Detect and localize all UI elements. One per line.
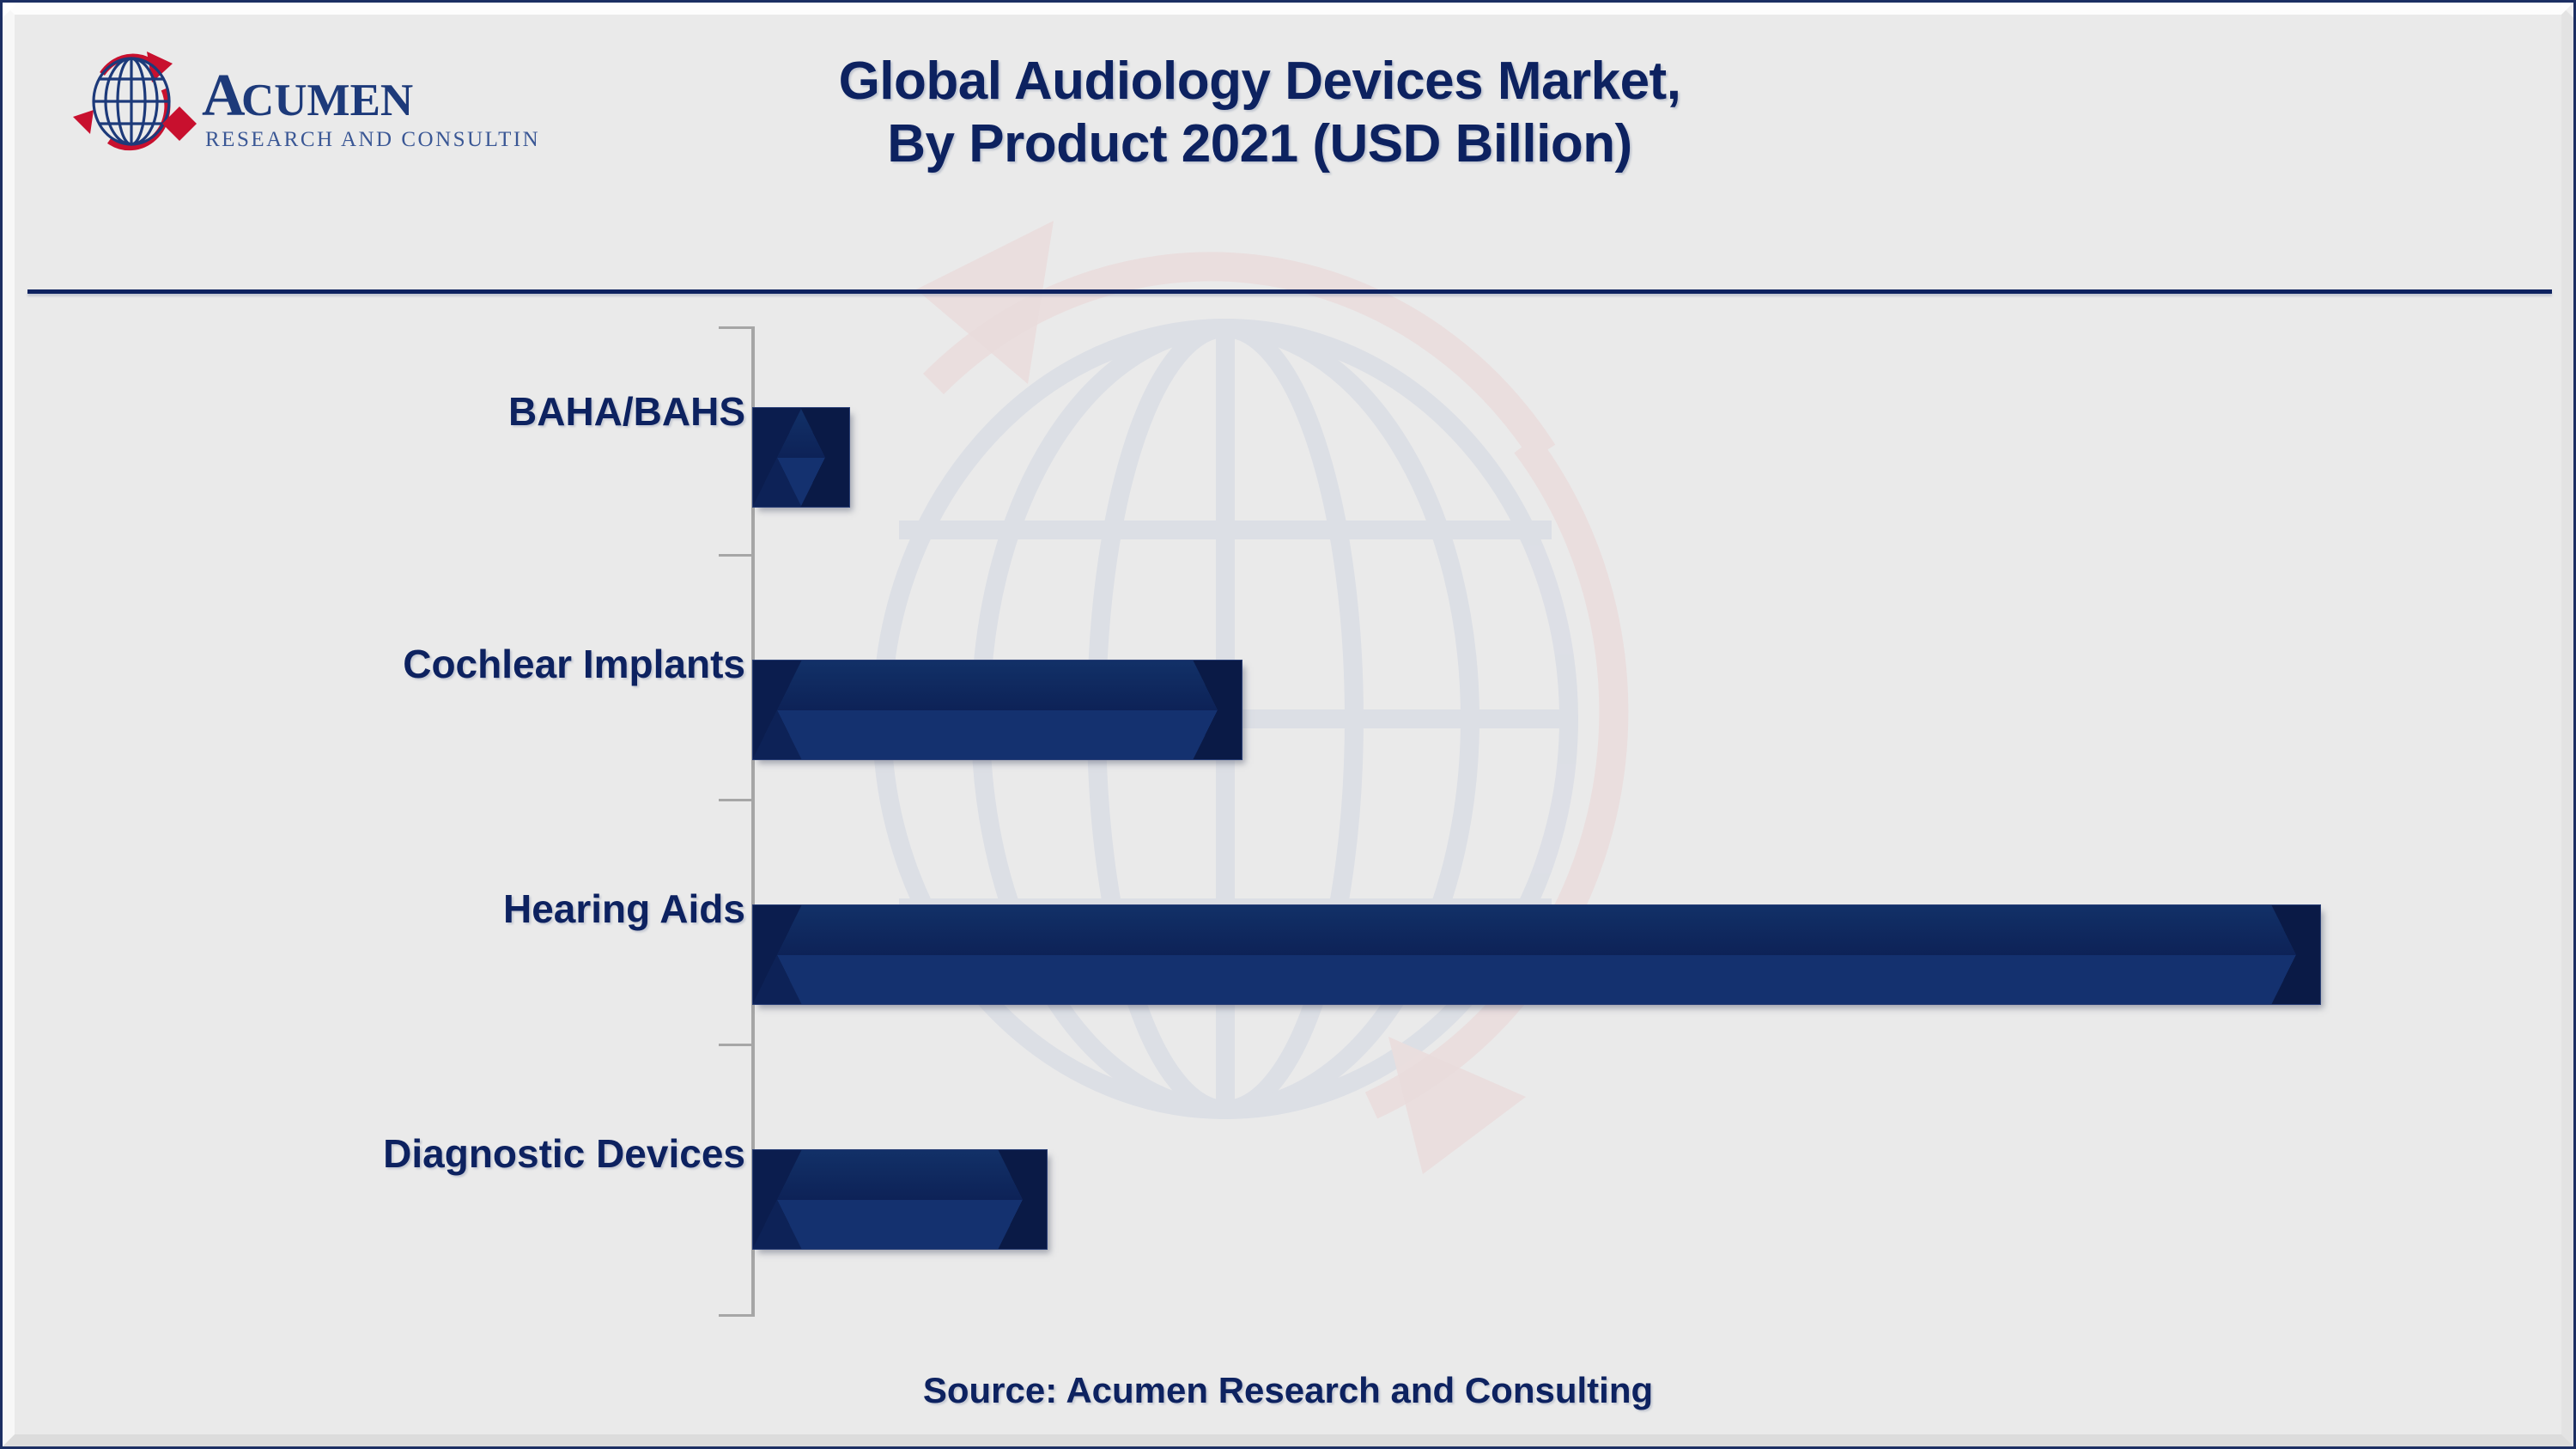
bar-outline: [752, 660, 1242, 760]
source-caption: Source: Acumen Research and Consulting: [15, 1370, 2561, 1411]
plot-area: BAHA/BAHS Cochlear Implants: [15, 15, 2561, 1434]
axis-tick: [719, 1044, 751, 1046]
bar-outline: [752, 904, 2321, 1005]
bar-cochlear-implants: [752, 660, 1242, 760]
bar-row: [752, 407, 850, 508]
header-divider: [27, 289, 2552, 294]
page-title: Global Audiology Devices Market, By Prod…: [616, 51, 1904, 175]
acumen-logo: A CUMEN RESEARCH AND CONSULTING: [58, 45, 538, 156]
bar-diagnostic-devices: [752, 1149, 1048, 1250]
bar-outline: [752, 1149, 1048, 1250]
bar-baha: [752, 407, 850, 508]
axis-tick: [719, 799, 751, 801]
bar-outline: [752, 407, 850, 508]
chart-canvas: A CUMEN RESEARCH AND CONSULTING Global A…: [15, 15, 2561, 1434]
title-line-1: Global Audiology Devices Market,: [839, 52, 1681, 111]
category-label-cochlear: Cochlear Implants: [403, 641, 745, 687]
axis-tick: [719, 1314, 751, 1317]
svg-text:CUMEN: CUMEN: [241, 76, 413, 125]
axis-tick: [719, 554, 751, 557]
category-label-hearing-aids: Hearing Aids: [503, 886, 745, 932]
bar-row: [752, 660, 1242, 760]
bar-row: [752, 904, 2321, 1005]
bar-hearing-aids: [752, 904, 2321, 1005]
logo-tagline: RESEARCH AND CONSULTING: [205, 128, 538, 151]
axis-tick: [719, 326, 751, 329]
category-label-diagnostic: Diagnostic Devices: [383, 1130, 745, 1177]
category-label-baha: BAHA/BAHS: [508, 388, 745, 435]
title-line-2: By Product 2021 (USD Billion): [616, 113, 1904, 176]
chart-image: A CUMEN RESEARCH AND CONSULTING Global A…: [0, 0, 2576, 1449]
logo-wordmark: A: [202, 63, 246, 129]
bar-row: [752, 1149, 1048, 1250]
